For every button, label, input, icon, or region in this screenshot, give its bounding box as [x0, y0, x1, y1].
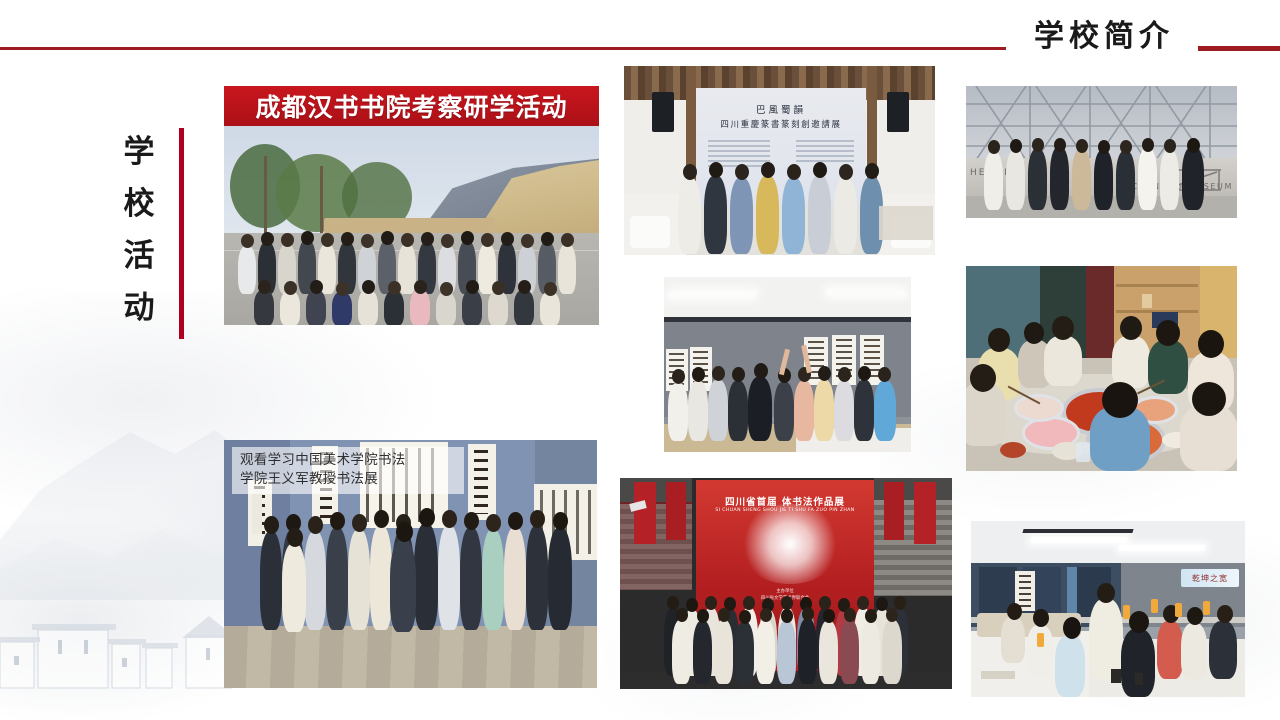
section-title-char-1: 学 — [112, 126, 168, 178]
section-title-char-2: 校 — [112, 178, 168, 230]
provincial-exhibition-photo[interactable]: 四川省首届 体书法作品展 SI CHUAN SHENG SHOU JIE TI … — [620, 478, 952, 689]
workshop-wall-sign: 乾坤之宽 — [1181, 569, 1239, 587]
museum-group-photo[interactable] — [224, 126, 599, 325]
header-rule-right-segment — [1198, 46, 1280, 51]
gallery-photo-caption: 观看学习中国美术学院书法 学院王义军教授书法展 — [232, 447, 464, 494]
section-title-char-3: 活 — [112, 230, 168, 282]
village-rooftops-icon — [0, 582, 260, 692]
slide-canvas: 学校简介 学 校 活 动 成都汉书书院考察研学活动 — [0, 0, 1280, 720]
exhibition-backdrop-title: 巴風蜀韻 — [696, 102, 866, 116]
exhibition-backdrop-subtitle: 四川重慶篆書篆刻創邀請展 — [696, 118, 866, 130]
hotpot-dinner-photo[interactable] — [966, 266, 1237, 471]
section-title-char-4: 动 — [112, 282, 168, 334]
hotpot-dinner-scene — [966, 266, 1237, 471]
provincial-exhibition-scene: 四川省首届 体书法作品展 SI CHUAN SHENG SHOU JIE TI … — [620, 478, 952, 689]
exhibition-banner-pinyin: SI CHUAN SHENG SHOU JIE TI SHU FA ZUO PI… — [700, 508, 870, 513]
page-title: 学校简介 — [1024, 22, 1184, 52]
gallery-caption-line-1: 观看学习中国美术学院书法 — [240, 451, 458, 470]
exhibition-banner-title: 四川省首届 体书法作品展 — [700, 494, 870, 508]
header-rule-left-segment — [0, 47, 1006, 50]
museum-group-photo-scene — [224, 126, 599, 325]
seal-script-exhibition-scene: 巴風蜀韻 四川重慶篆書篆刻創邀請展 — [624, 66, 935, 255]
chengdu-museum-photo[interactable]: HENGD CHENGDU MUSEUM — [966, 86, 1237, 218]
calligraphy-classroom-scene — [664, 277, 911, 452]
evening-workshop-scene: 乾坤之宽 — [971, 521, 1245, 697]
section-title-vertical: 学 校 活 动 — [112, 126, 168, 334]
evening-workshop-photo[interactable]: 乾坤之宽 — [971, 521, 1245, 697]
seal-script-exhibition-photo[interactable]: 巴風蜀韻 四川重慶篆書篆刻創邀請展 — [624, 66, 935, 255]
activity-banner: 成都汉书书院考察研学活动 — [224, 86, 599, 126]
calligraphy-classroom-photo[interactable] — [664, 277, 911, 452]
section-accent-bar — [179, 128, 184, 339]
gallery-caption-line-2: 学院王义军教授书法展 — [240, 470, 458, 489]
chengdu-museum-scene: HENGD CHENGDU MUSEUM — [966, 86, 1237, 218]
